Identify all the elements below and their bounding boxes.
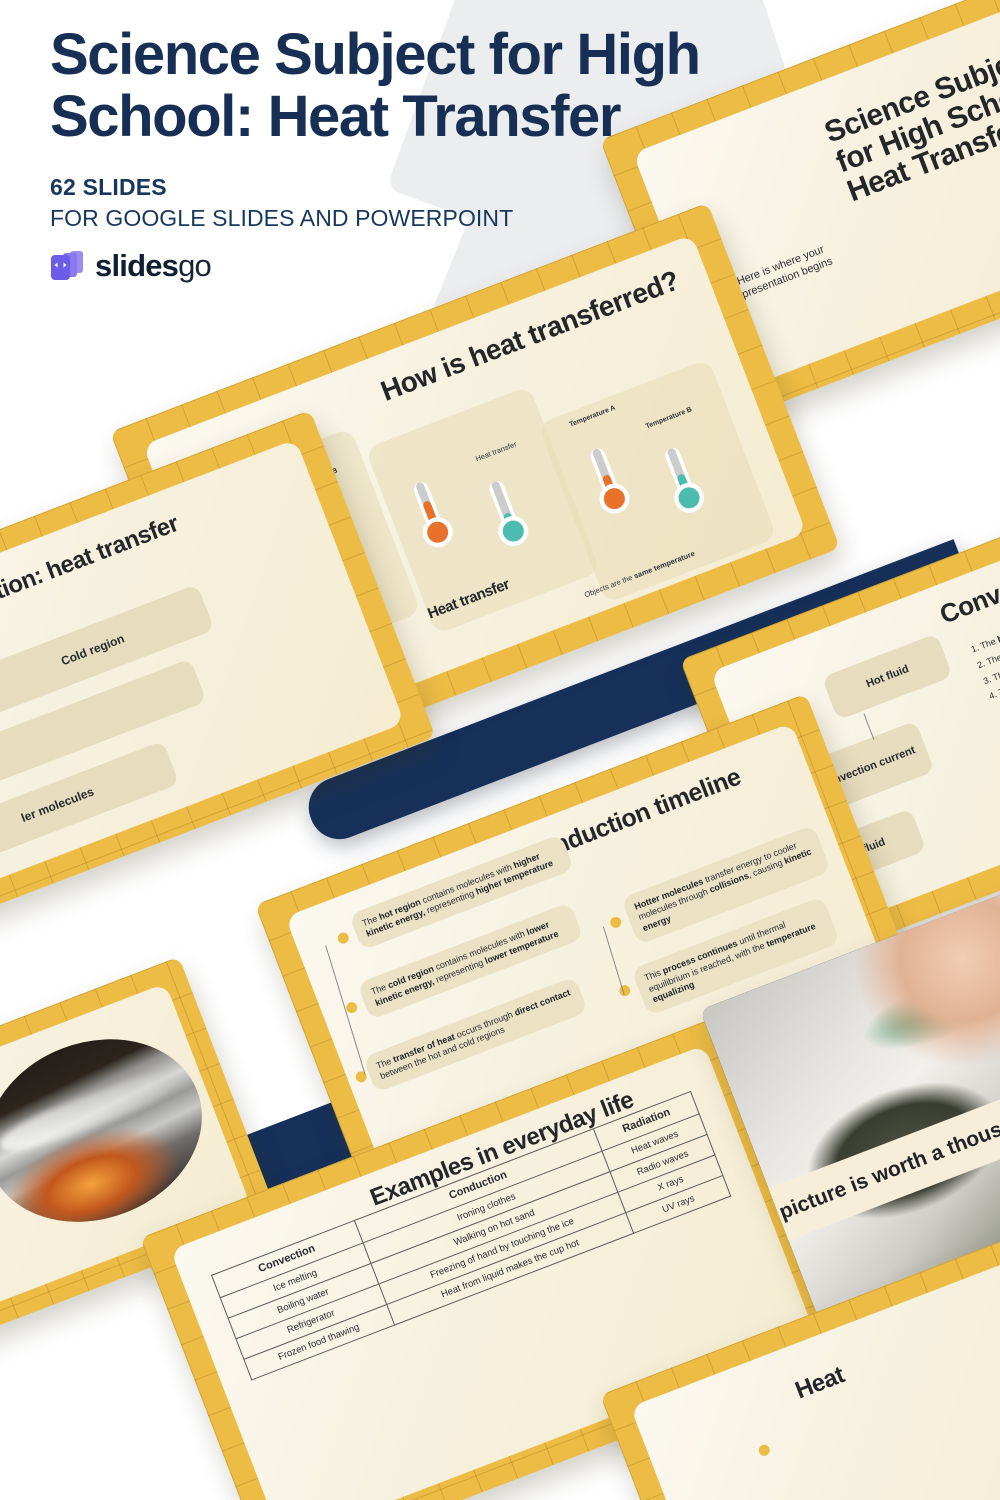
timeline-dot-1 xyxy=(336,931,350,945)
timeline-dot-2 xyxy=(345,1000,359,1014)
page-title: Science Subject for High School: Heat Tr… xyxy=(50,24,880,148)
slidesgo-cards-icon xyxy=(50,249,86,283)
timeline-dot-3 xyxy=(354,1069,368,1083)
slidesgo-logo[interactable]: slidesgo xyxy=(50,248,880,284)
timeline-line-left xyxy=(325,945,365,1075)
slide-count: 62 SLIDES xyxy=(50,174,880,201)
poster-root: Science Subject for High School: Heat Tr… xyxy=(0,0,1000,1500)
timeline-dot-5 xyxy=(617,984,631,998)
slidesgo-wordmark: slidesgo xyxy=(95,248,211,284)
slide-title-text: ction: heat transfer xyxy=(0,512,182,610)
chip-hot-fluid: Hot fluid xyxy=(822,634,953,720)
poster-header: Science Subject for High School: Heat Tr… xyxy=(50,24,880,284)
timeline-dot-4 xyxy=(608,915,622,929)
slide-inner-panel: ction: heat transfer Cold region ler mol… xyxy=(0,439,405,921)
slide-title-text: Convecti xyxy=(936,566,1000,629)
photo-content xyxy=(0,1008,229,1252)
connector-hot-to-current xyxy=(863,713,874,740)
lab-apparatus-illustration xyxy=(996,142,1000,265)
slide-title-text: Heat xyxy=(792,1363,848,1404)
bullet-dot xyxy=(757,1443,771,1457)
convection-steps-list: The hot fluid, contains regions The conv… xyxy=(964,552,1000,721)
format-support: FOR GOOGLE SLIDES AND POWERPOINT xyxy=(50,205,880,232)
timeline-line-right xyxy=(603,927,625,995)
brand-light: go xyxy=(178,248,211,283)
brand-bold: slides xyxy=(95,248,178,283)
pot-on-stove-photo xyxy=(0,1008,229,1252)
